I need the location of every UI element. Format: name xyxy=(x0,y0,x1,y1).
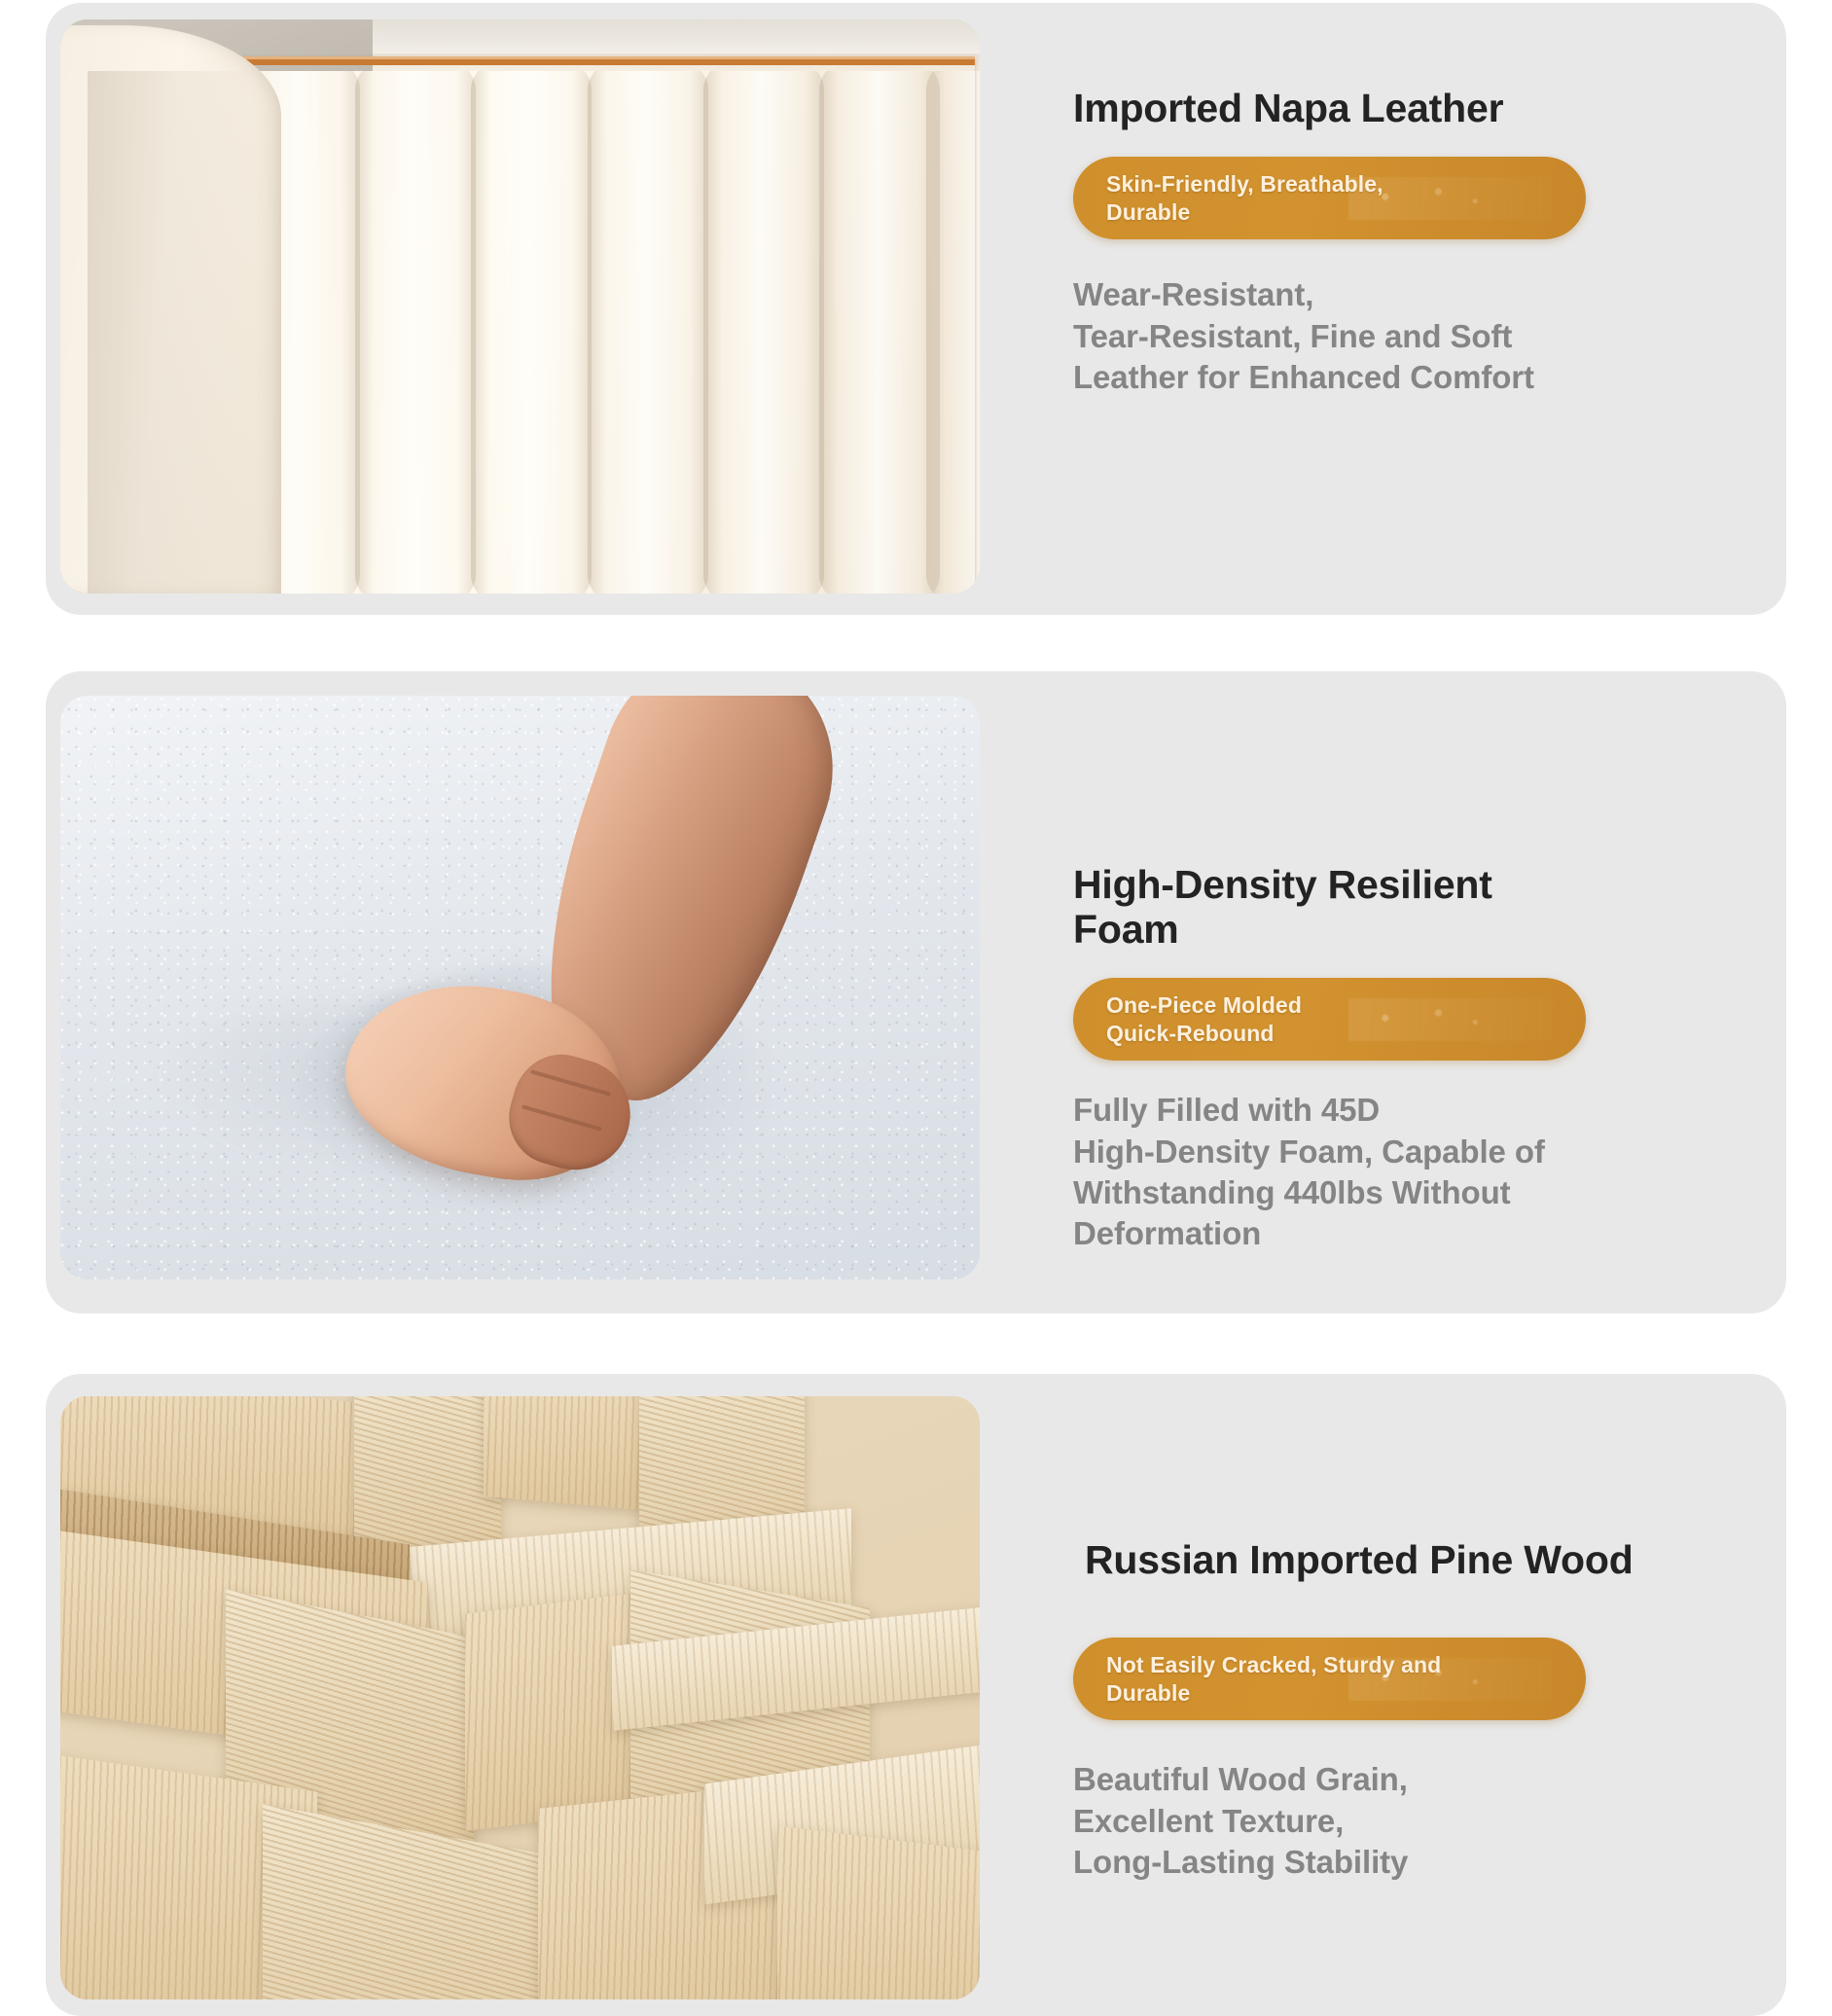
wall-backdrop xyxy=(364,19,980,54)
feature-tag-badge: One-Piece Molded Quick-Rebound xyxy=(1073,978,1586,1062)
feature-title: Imported Napa Leather xyxy=(1073,87,1744,131)
feature-copy-pine-wood: Russian Imported Pine Wood Not Easily Cr… xyxy=(1073,1538,1744,1883)
feature-description: Wear-Resistant, Tear-Resistant, Fine and… xyxy=(1073,239,1744,398)
feature-description: Fully Filled with 45D High-Density Foam,… xyxy=(1073,1061,1744,1254)
watermark-artifact xyxy=(1348,998,1553,1041)
wood-beam-end xyxy=(263,1805,557,1999)
feature-image-napa-leather xyxy=(60,19,980,594)
feature-card-napa-leather: Imported Napa Leather Skin-Friendly, Bre… xyxy=(46,3,1786,615)
feature-card-resilient-foam: High-Density Resilient Foam One-Piece Mo… xyxy=(46,671,1786,1314)
feature-tag-badge: Not Easily Cracked, Sturdy and Durable xyxy=(1073,1638,1586,1721)
foam-press-illustration xyxy=(60,696,980,1279)
feature-copy-napa-leather: Imported Napa Leather Skin-Friendly, Bre… xyxy=(1073,87,1744,398)
feature-title: Russian Imported Pine Wood xyxy=(1073,1538,1744,1583)
feature-title: High-Density Resilient Foam xyxy=(1073,863,1744,953)
feature-tag-label: Not Easily Cracked, Sturdy and Durable xyxy=(1106,1651,1441,1708)
panel-edge-shadow xyxy=(88,71,253,594)
feature-tag-badge: Skin-Friendly, Breathable, Durable xyxy=(1073,157,1586,240)
feature-copy-resilient-foam: High-Density Resilient Foam One-Piece Mo… xyxy=(1073,863,1744,1254)
wood-beam xyxy=(777,1825,980,1999)
feature-image-resilient-foam xyxy=(60,696,980,1279)
feature-tag-label: One-Piece Molded Quick-Rebound xyxy=(1106,991,1302,1048)
feature-image-pine-wood xyxy=(60,1396,980,1999)
leather-headboard-illustration xyxy=(60,19,980,594)
feature-tag-label: Skin-Friendly, Breathable, Durable xyxy=(1106,170,1383,227)
feature-card-pine-wood: Russian Imported Pine Wood Not Easily Cr… xyxy=(46,1374,1786,2016)
pine-wood-illustration xyxy=(60,1396,980,1999)
feature-description: Beautiful Wood Grain, Excellent Texture,… xyxy=(1073,1720,1744,1883)
